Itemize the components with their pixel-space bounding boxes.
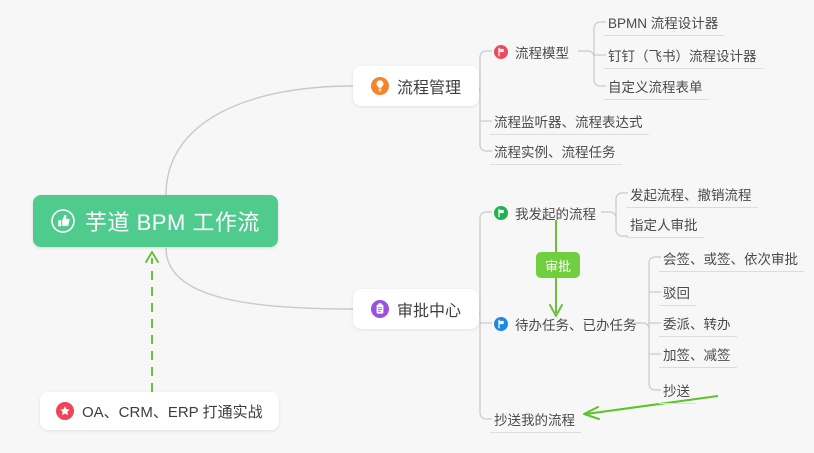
sub-branch-todo-done[interactable]: 待办任务、已办任务 — [490, 310, 643, 337]
star-icon — [56, 402, 74, 420]
clipboard-icon — [371, 300, 389, 318]
leaf-node-label: 会签、或签、依次审批 — [663, 248, 798, 268]
leaf-node-multi-sign[interactable]: 会签、或签、依次审批 — [659, 245, 804, 272]
leaf-node-label: 委派、转办 — [663, 313, 731, 333]
floating-node-oa-crm-erp[interactable]: OA、CRM、ERP 打通实战 — [40, 392, 279, 430]
sub-branch-label: 流程模型 — [515, 42, 569, 62]
branch-node-process-management[interactable]: 流程管理 — [353, 66, 479, 106]
leaf-node-instance-task[interactable]: 流程实例、流程任务 — [490, 138, 622, 165]
arrow-cc-to-ccme — [586, 396, 718, 414]
leaf-node-label: 流程实例、流程任务 — [494, 141, 616, 161]
thumbs-up-icon — [51, 209, 75, 233]
leaf-node-label: 抄送我的流程 — [494, 409, 575, 429]
wire-root-to-process-management — [166, 86, 353, 195]
leaf-node-label: 驳回 — [663, 282, 690, 302]
branch-node-label: 审批中心 — [397, 297, 461, 321]
leaf-node-label: 流程监听器、流程表达式 — [494, 111, 643, 131]
sub-branch-my-initiated[interactable]: 我发起的流程 — [490, 199, 602, 226]
lightbulb-icon — [371, 77, 389, 95]
arrow-oa-to-root-head — [146, 252, 158, 262]
flag-icon — [494, 317, 508, 331]
leaf-node-label: 自定义流程表单 — [608, 76, 703, 96]
leaf-node-label: 指定人审批 — [630, 214, 698, 234]
leaf-node-label: 钉钉（飞书）流程设计器 — [608, 45, 757, 65]
flag-icon — [494, 45, 508, 59]
leaf-node-custom-process-form[interactable]: 自定义流程表单 — [604, 73, 709, 100]
sub-branch-process-model[interactable]: 流程模型 — [490, 38, 575, 65]
leaf-node-cc-to-me[interactable]: 抄送我的流程 — [490, 406, 581, 433]
leaf-node-label: 发起流程、撤销流程 — [630, 184, 752, 204]
leaf-node-dingtalk-feishu-designer[interactable]: 钉钉（飞书）流程设计器 — [604, 42, 763, 69]
leaf-node-bpmn-designer[interactable]: BPMN 流程设计器 — [604, 9, 724, 36]
root-node[interactable]: 芋道 BPM 工作流 — [33, 195, 278, 247]
leaf-node-label: BPMN 流程设计器 — [608, 12, 718, 32]
mindmap-canvas: 芋道 BPM 工作流 流程管理 流程模型 BPMN 流程设计器 钉钉（飞书）流程 — [0, 0, 814, 453]
branch-node-label: 流程管理 — [397, 74, 461, 98]
wire-root-to-approval-center — [166, 248, 353, 309]
leaf-node-label: 抄送 — [663, 380, 690, 400]
leaf-node-add-remove-sign[interactable]: 加签、减签 — [659, 341, 737, 368]
sub-branch-label: 我发起的流程 — [515, 203, 596, 223]
branch-node-approval-center[interactable]: 审批中心 — [353, 289, 479, 329]
annotation-tag-approval: 审批 — [536, 252, 580, 278]
leaf-node-listener-expression[interactable]: 流程监听器、流程表达式 — [490, 108, 649, 135]
leaf-node-cc[interactable]: 抄送 — [659, 377, 696, 404]
wire-process-model-bracket — [578, 28, 594, 80]
annotation-tag-label: 审批 — [545, 256, 571, 275]
wire-my-initiated-bracket — [601, 199, 616, 230]
sub-branch-label: 待办任务、已办任务 — [515, 314, 637, 334]
root-node-label: 芋道 BPM 工作流 — [85, 205, 260, 237]
leaf-node-label: 加签、减签 — [663, 344, 731, 364]
leaf-node-start-cancel[interactable]: 发起流程、撤销流程 — [626, 181, 758, 208]
floating-node-label: OA、CRM、ERP 打通实战 — [82, 401, 263, 422]
leaf-node-reject[interactable]: 驳回 — [659, 279, 696, 306]
arrow-cc-to-ccme-head — [584, 407, 599, 419]
leaf-node-assigned-approval[interactable]: 指定人审批 — [626, 211, 704, 238]
flag-icon — [494, 206, 508, 220]
leaf-node-delegate-transfer[interactable]: 委派、转办 — [659, 310, 737, 337]
